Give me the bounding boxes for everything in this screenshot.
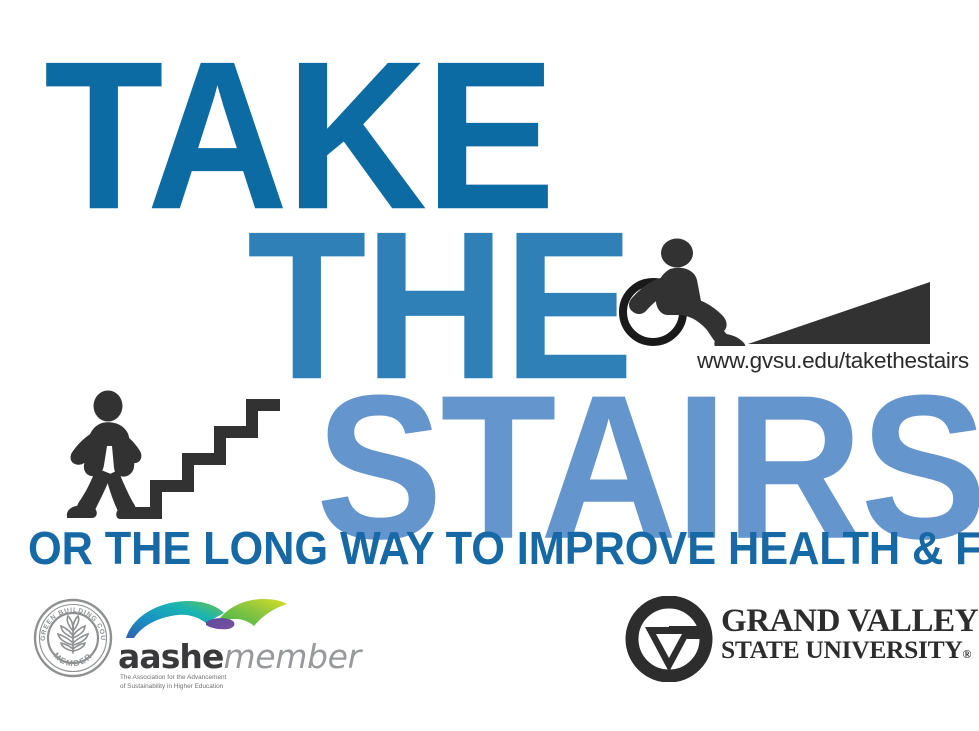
gvsu-registered-mark: ® [962,647,971,661]
poster-tagline: OR THE LONG WAY TO IMPROVE HEALTH & FITN… [28,526,926,573]
aashe-tagline-line-2: of Sustainability in Higher Education [120,683,226,692]
website-url-text[interactable]: www.gvsu.edu/takethestairs [697,348,969,374]
walking-person-stairs-svg [66,388,280,520]
usgbc-seal-svg: U.S. GREEN BUILDING COUNCIL MEMBER [33,598,113,678]
gvsu-wordmark: GRAND VALLEY STATE UNIVERSITY® [721,605,978,662]
logo-row: U.S. GREEN BUILDING COUNCIL MEMBER [0,586,979,696]
aashe-word: aashe [118,637,223,676]
aashe-tagline-line-1: The Association for the Advancement [120,674,226,683]
aashe-member-logo: aashemember The Association for the Adva… [118,602,318,678]
aashe-member-word: member [223,637,360,676]
aashe-swoosh-icon [124,598,324,640]
gvsu-line-1: GRAND VALLEY [721,605,978,637]
aashe-tagline: The Association for the Advancement of S… [120,674,226,691]
usgbc-member-seal: U.S. GREEN BUILDING COUNCIL MEMBER [33,598,113,678]
gvsu-line-2: STATE UNIVERSITY [721,635,962,664]
wheelchair-ramp-icon [596,236,932,346]
poster-canvas: TAKE THE STAIRS [0,0,979,731]
wheelchair-ramp-svg [596,236,932,346]
walking-person-stairs-icon [66,388,280,520]
gvsu-line-2-wrap: STATE UNIVERSITY® [721,637,978,662]
grand-valley-state-university-logo: GRAND VALLEY STATE UNIVERSITY® [625,596,937,682]
aashe-wordmark: aashemember [118,640,361,673]
gvsu-g-mark-icon [625,596,713,682]
